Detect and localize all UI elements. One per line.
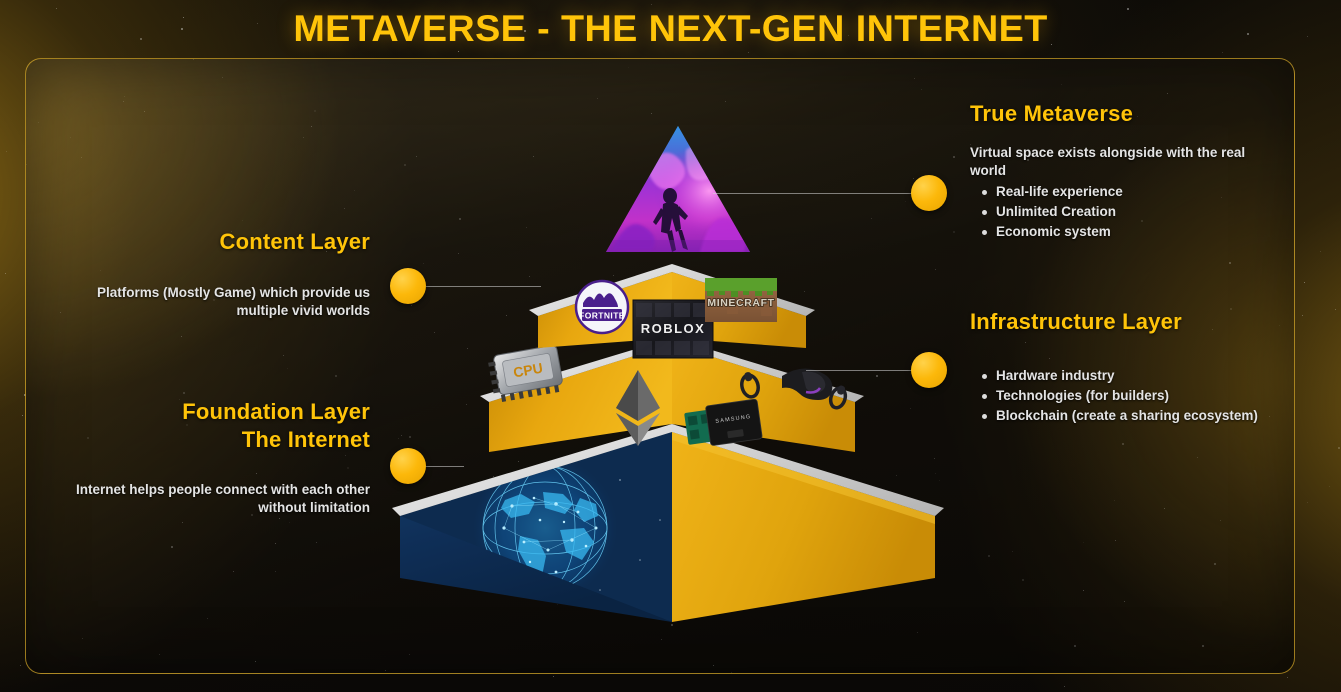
list-item: Unlimited Creation <box>996 202 1270 222</box>
section-infrastructure: Infrastructure Layer Hardware industry T… <box>970 308 1270 426</box>
connector-line-true-metaverse <box>713 193 915 194</box>
section-foundation: Foundation Layer The Internet Internet h… <box>70 398 370 517</box>
list-item: Real-life experience <box>996 182 1270 202</box>
list-item: Hardware industry <box>996 366 1270 386</box>
connector-line-content <box>426 286 541 287</box>
infrastructure-bullets: Hardware industry Technologies (for buil… <box>970 366 1270 427</box>
foundation-description: Internet helps people connect with each … <box>70 481 370 517</box>
content-heading: Content Layer <box>70 228 370 256</box>
connector-dot-content[interactable] <box>390 268 426 304</box>
connector-dot-foundation[interactable] <box>390 448 426 484</box>
list-item: Economic system <box>996 222 1270 242</box>
page-title: METAVERSE - THE NEXT-GEN INTERNET <box>0 8 1341 50</box>
list-item: Blockchain (create a sharing ecosystem) <box>996 406 1270 426</box>
true-metaverse-bullets: Real-life experience Unlimited Creation … <box>970 182 1270 243</box>
connector-line-infrastructure <box>806 370 915 371</box>
connector-dot-infrastructure[interactable] <box>911 352 947 388</box>
infrastructure-heading: Infrastructure Layer <box>970 308 1270 336</box>
connector-dot-true-metaverse[interactable] <box>911 175 947 211</box>
list-item: Technologies (for builders) <box>996 386 1270 406</box>
section-true-metaverse: True Metaverse Virtual space exists alon… <box>970 100 1270 243</box>
foundation-heading-line2: The Internet <box>70 426 370 454</box>
true-metaverse-description: Virtual space exists alongside with the … <box>970 144 1270 180</box>
content-description: Platforms (Mostly Game) which provide us… <box>70 284 370 320</box>
foundation-heading-line1: Foundation Layer <box>70 398 370 426</box>
section-content: Content Layer Platforms (Mostly Game) wh… <box>70 228 370 320</box>
connector-line-foundation <box>424 466 464 467</box>
true-metaverse-heading: True Metaverse <box>970 100 1270 128</box>
